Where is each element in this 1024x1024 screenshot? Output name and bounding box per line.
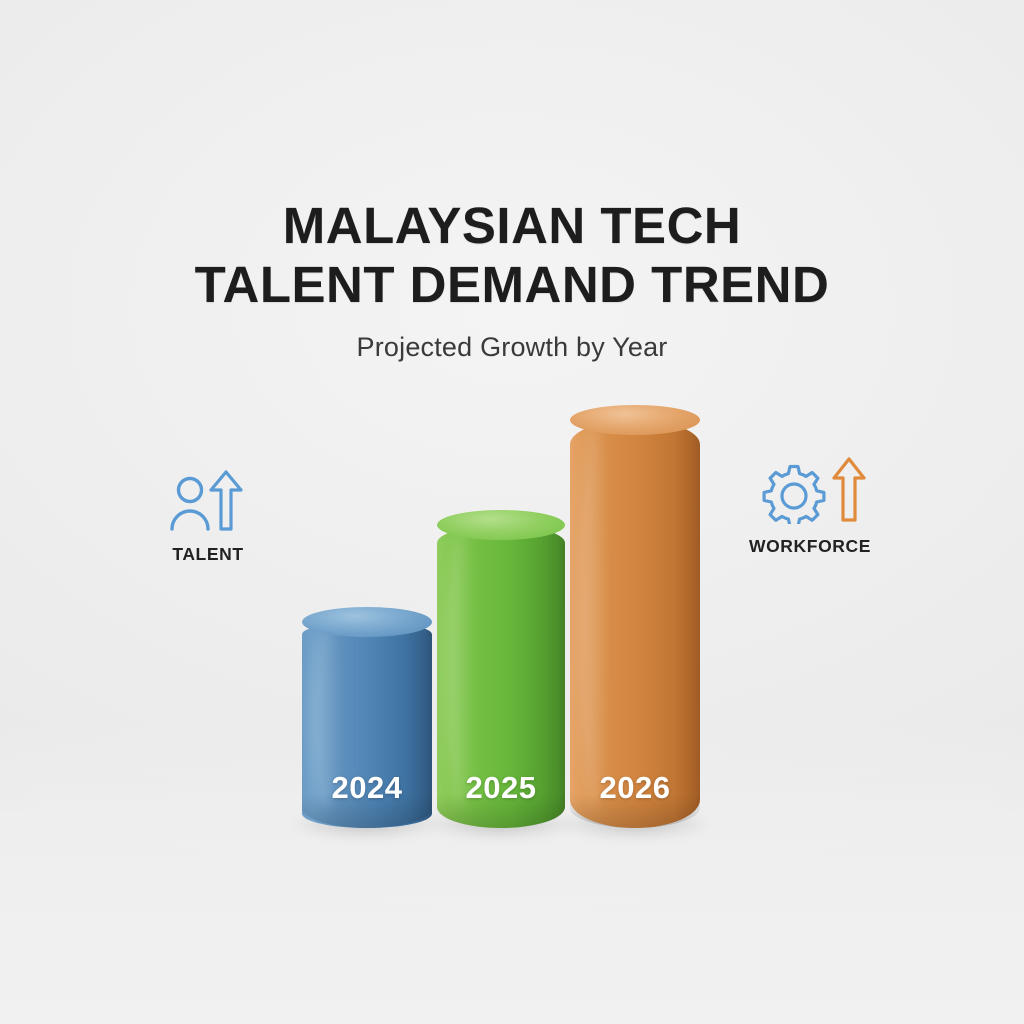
- bar-2025[interactable]: 2025: [437, 525, 565, 828]
- bar-2024-label: 2024: [302, 770, 432, 806]
- bar-2024-top-cap: [302, 607, 432, 637]
- bar-2025-label: 2025: [437, 770, 565, 806]
- bar-2026-label: 2026: [570, 770, 700, 806]
- bar-2026[interactable]: 2026: [570, 420, 700, 828]
- infographic-canvas: MALAYSIAN TECH TALENT DEMAND TREND Proje…: [0, 0, 1024, 1024]
- bar-2026-top-cap: [570, 405, 700, 435]
- bar-2026-body: [570, 420, 700, 828]
- bar-2024[interactable]: 2024: [302, 622, 432, 828]
- bar-2025-top-cap: [437, 510, 565, 540]
- bar-chart: 2024 2025 2026: [0, 0, 1024, 1024]
